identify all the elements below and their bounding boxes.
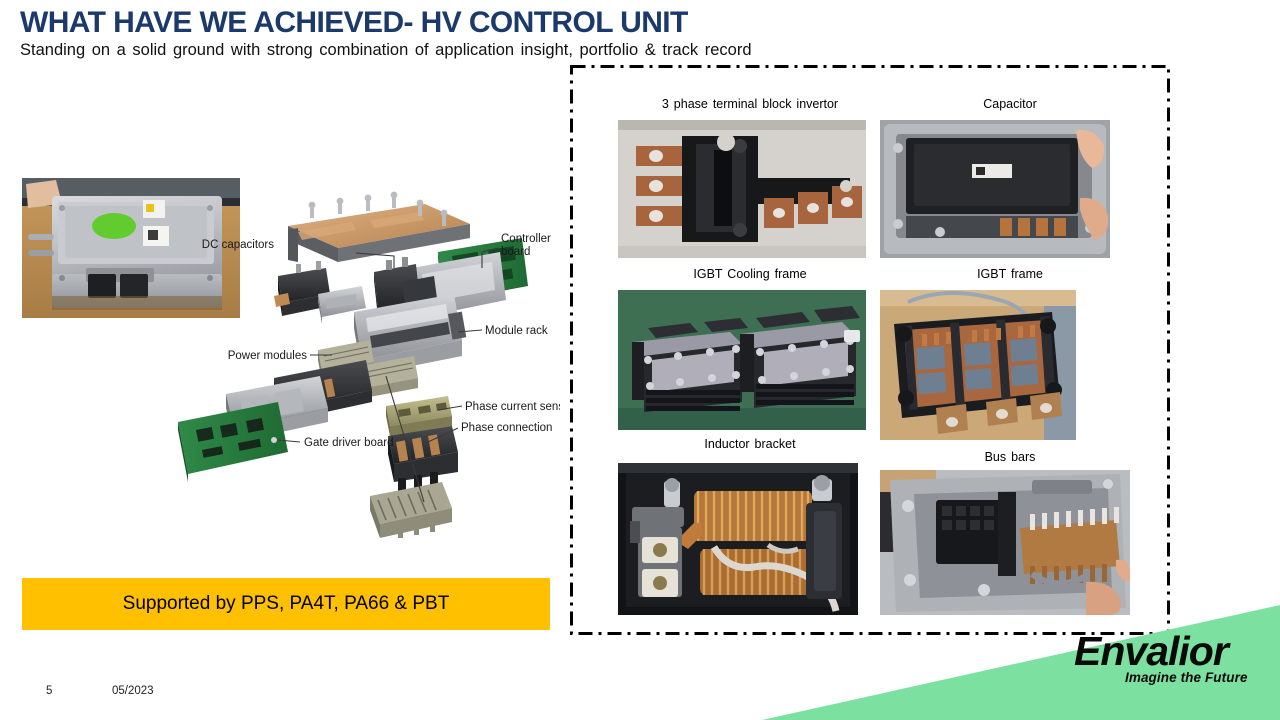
- diagram-label-phase-connection: Phase connection: [461, 422, 552, 434]
- gallery-photo-igbt-frame: [880, 290, 1076, 440]
- gallery-label-igbt-frame: IGBT frame: [890, 267, 1130, 281]
- gallery-label-inductor-bracket: Inductor bracket: [600, 437, 900, 451]
- diagram-label-module-rack: Module rack: [485, 325, 548, 337]
- diagram-label-phase-current-sensor: Phase current sensor: [465, 401, 560, 413]
- gallery-photo-capacitor: [880, 120, 1110, 258]
- supported-by-text: Supported by PPS, PA4T, PA66 & PBT: [123, 593, 450, 615]
- gallery-label-capacitor: Capacitor: [890, 97, 1130, 111]
- diagram-label-controller-board-l1: Controller: [501, 233, 551, 245]
- brand-tagline: Imagine the Future: [1125, 670, 1248, 685]
- gallery-photo-3-phase-terminal-block-invertor: [618, 120, 866, 258]
- exploded-view-diagram: Controller board DC capacitors Module ra…: [170, 190, 560, 540]
- gallery-photo-igbt-cooling-frame: [618, 290, 866, 430]
- brand-logo-name: Envalior: [1074, 628, 1228, 675]
- diagram-part-gate-driver-board: [178, 402, 288, 482]
- diagram-label-dc-capacitors: DC capacitors: [202, 239, 274, 251]
- footer-page-number: 5: [46, 685, 52, 697]
- gallery-label-igbt-cooling-frame: IGBT Cooling frame: [600, 267, 900, 281]
- diagram-label-gate-driver-board: Gate driver board: [304, 437, 394, 449]
- supported-by-callout: Supported by PPS, PA4T, PA66 & PBT: [22, 578, 550, 630]
- page-subtitle: Standing on a solid ground with strong c…: [20, 41, 752, 60]
- page-title: WHAT HAVE WE ACHIEVED- HV CONTROL UNIT: [20, 6, 688, 40]
- diagram-label-power-modules: Power modules: [228, 350, 308, 362]
- diagram-part-phase-connection: [388, 426, 458, 496]
- slide-canvas: WHAT HAVE WE ACHIEVED- HV CONTROL UNIT S…: [0, 0, 1280, 720]
- gallery-photo-inductor-bracket: [618, 463, 858, 615]
- component-gallery-panel: 3 phase terminal block invertor: [570, 65, 1170, 635]
- diagram-part-bottom-power-module: [370, 482, 452, 538]
- gallery-label-3-phase-terminal-block-invertor: 3 phase terminal block invertor: [600, 97, 900, 111]
- diagram-label-controller-board-l2: board: [501, 246, 530, 258]
- gallery-label-bus-bars: Bus bars: [890, 450, 1130, 464]
- gallery-photo-bus-bars: [880, 470, 1130, 615]
- footer-date: 05/2023: [112, 685, 154, 697]
